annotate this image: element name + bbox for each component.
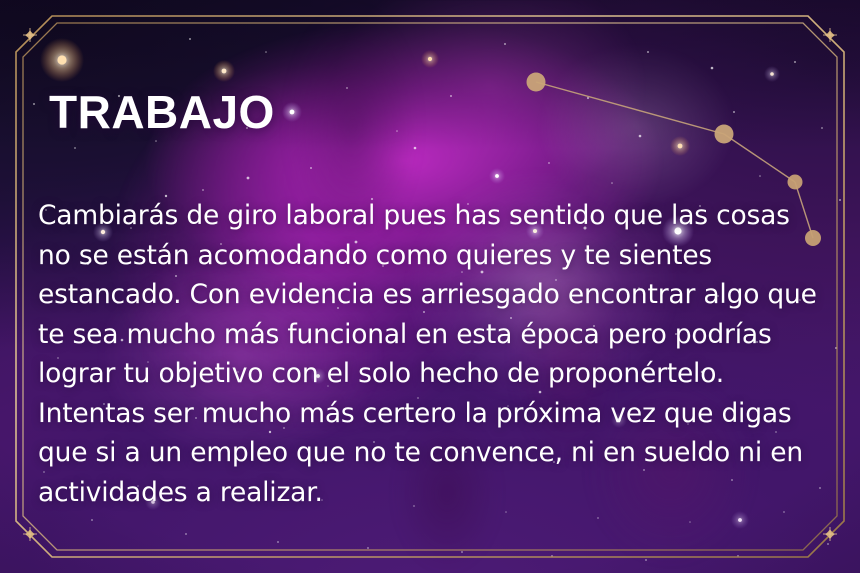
body-line: actividades a realizar.: [38, 473, 828, 513]
body-line: no se están acomodando como quieres y te…: [38, 236, 828, 276]
card-content: TRABAJO Cambiarás de giro laboral pues h…: [0, 0, 860, 573]
horoscope-card: TRABAJO Cambiarás de giro laboral pues h…: [0, 0, 860, 573]
page-title: TRABAJO: [49, 89, 275, 135]
body-line: estancado. Con evidencia es arriesgado e…: [38, 275, 828, 315]
body-line: Intentas ser mucho más certero la próxim…: [38, 394, 828, 434]
body-line: que si a un empleo que no te convence, n…: [38, 433, 828, 473]
body-line: Cambiarás de giro laboral pues has senti…: [38, 196, 828, 236]
body-line: te sea mucho más funcional en esta época…: [38, 315, 828, 355]
body-line: lograr tu objetivo con el solo hecho de …: [38, 354, 828, 394]
horoscope-body: Cambiarás de giro laboral pues has senti…: [38, 196, 828, 512]
